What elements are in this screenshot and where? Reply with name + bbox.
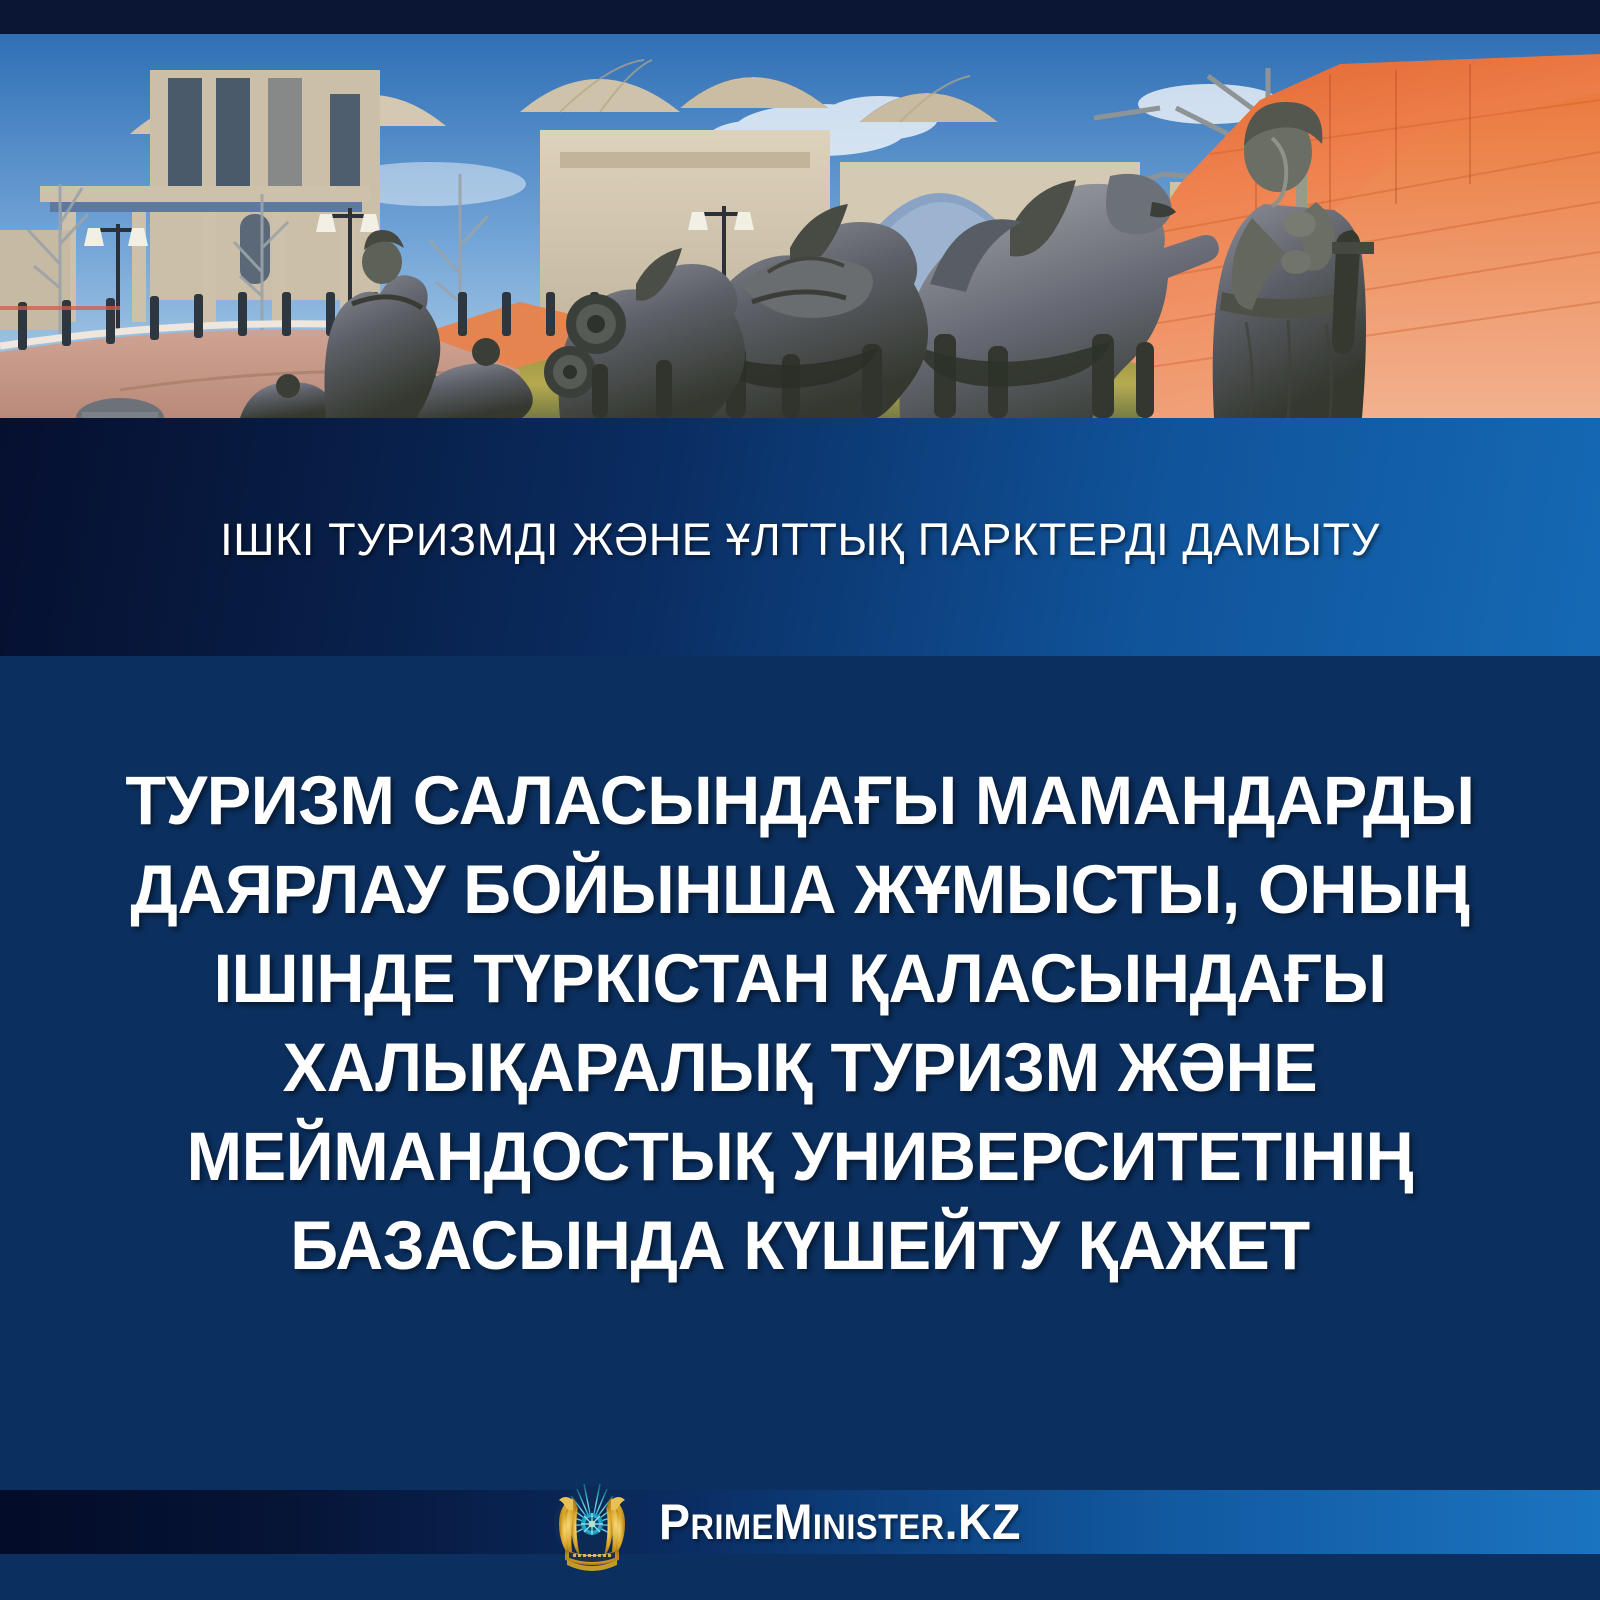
headline: ТУРИЗМ САЛАСЫНДАҒЫ МАМАНДАРДЫ ДАЯРЛАУ БО… bbox=[60, 756, 1540, 1290]
message-area: ТУРИЗМ САЛАСЫНДАҒЫ МАМАНДАРДЫ ДАЯРЛАУ БО… bbox=[0, 656, 1600, 1490]
title-banner: ІШКІ ТУРИЗМДІ ЖӘНЕ ҰЛТТЫҚ ПАРКТЕРДІ ДАМЫ… bbox=[0, 418, 1600, 656]
banner-title: ІШКІ ТУРИЗМДІ ЖӘНЕ ҰЛТТЫҚ ПАРКТЕРДІ ДАМЫ… bbox=[0, 514, 1600, 566]
headline-line-1: ТУРИЗМ САЛАСЫНДАҒЫ МАМАНДАРДЫ bbox=[86, 756, 1514, 845]
kazakhstan-coat-of-arms-icon bbox=[551, 1472, 633, 1572]
site-wordmark[interactable]: PrimeMinister.KZ bbox=[659, 1493, 1021, 1551]
footer: PrimeMinister.KZ bbox=[0, 1458, 1600, 1586]
headline-line-4: ХАЛЫҚАРАЛЫҚ ТУРИЗМ ЖӘНЕ bbox=[86, 1023, 1514, 1112]
headline-line-2: ДАЯРЛАУ БОЙЫНША ЖҰМЫСТЫ, ОНЫҢ bbox=[86, 845, 1514, 934]
hero-photo bbox=[0, 34, 1600, 418]
headline-line-3: ІШІНДЕ ТҮРКІСТАН ҚАЛАСЫНДАҒЫ bbox=[86, 934, 1514, 1023]
top-dark-strip bbox=[0, 0, 1600, 34]
infographic-poster: ІШКІ ТУРИЗМДІ ЖӘНЕ ҰЛТТЫҚ ПАРКТЕРДІ ДАМЫ… bbox=[0, 0, 1600, 1600]
headline-line-6: БАЗАСЫНДА КҮШЕЙТУ ҚАЖЕТ bbox=[86, 1201, 1514, 1290]
headline-line-5: МЕЙМАНДОСТЫҚ УНИВЕРСИТЕТІНІҢ bbox=[86, 1112, 1514, 1201]
